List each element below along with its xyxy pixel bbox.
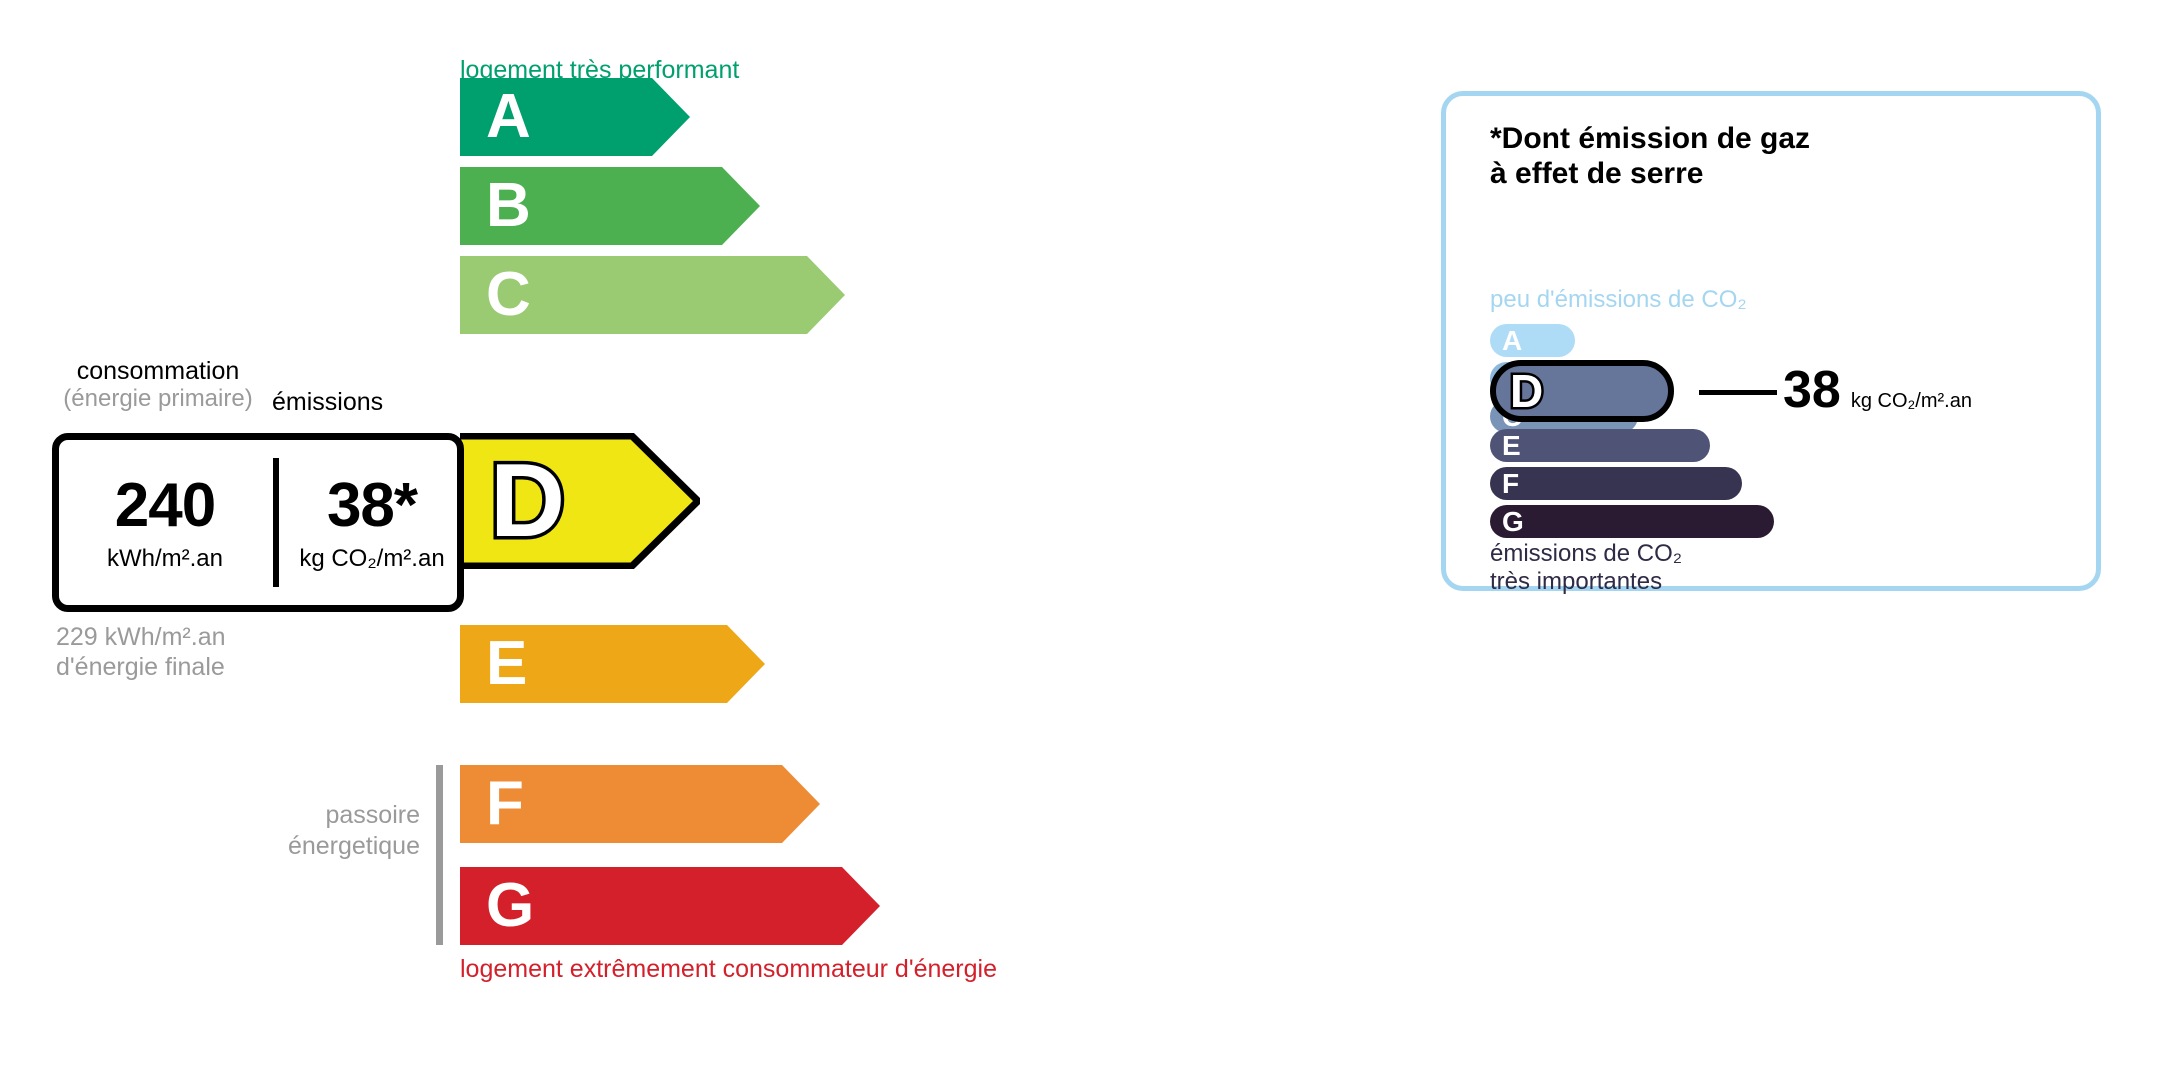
consumption-unit: kWh/m².an: [107, 547, 223, 571]
ges-bottom-caption: émissions de CO₂ très importantes: [1490, 540, 1682, 595]
emission-value: 38*: [327, 475, 417, 537]
ges-title: *Dont émission de gaz à effet de serre: [1490, 122, 1810, 191]
emission-value-cell: 38* kg CO₂/m².an: [279, 440, 465, 605]
final-energy-note-line2: d'énergie finale: [56, 652, 226, 682]
energy-bar-e: E: [460, 625, 765, 703]
ges-top-caption: peu d'émissions de CO₂: [1490, 286, 1747, 314]
ges-letter-g: G: [1502, 508, 1524, 536]
energy-letter-f: F: [486, 773, 523, 835]
passoire-bracket: [436, 765, 443, 945]
ges-unit: kg CO₂/m².an: [1851, 390, 1972, 413]
energy-bar-d-selected: D: [460, 433, 700, 569]
consumption-label: consommation: [77, 357, 240, 385]
energy-bar-f: F: [460, 765, 820, 843]
ges-bar-a: A: [1490, 324, 1575, 357]
ges-bar-d-selected: D: [1490, 360, 1674, 422]
energy-bar-a: A: [460, 78, 690, 156]
final-energy-note: 229 kWh/m².an d'énergie finale: [56, 622, 226, 682]
consumption-value-cell: 240 kWh/m².an: [59, 440, 271, 605]
energy-letter-c: C: [486, 264, 530, 326]
energy-bar-b: B: [460, 167, 760, 245]
passoire-line1: passoire: [160, 800, 420, 831]
ges-letter-a: A: [1502, 327, 1522, 355]
primary-energy-label: (énergie primaire): [52, 386, 264, 412]
energy-letter-a: A: [486, 86, 530, 148]
emissions-label: émissions: [272, 388, 383, 417]
consumption-label-group: consommation (énergie primaire): [52, 358, 264, 412]
consumption-value: 240: [115, 475, 215, 537]
ges-bar-f: F: [1490, 467, 1742, 500]
ges-letter-e: E: [1502, 432, 1521, 460]
energy-bar-g: G: [460, 867, 880, 945]
energy-letter-e: E: [486, 633, 526, 695]
energy-bottom-caption: logement extrêmement consommateur d'éner…: [460, 955, 997, 984]
ges-value: 38: [1783, 364, 1841, 416]
energy-bar-c: C: [460, 256, 845, 334]
passoire-label: passoire énergetique: [160, 800, 420, 863]
ges-letter-f: F: [1502, 470, 1519, 498]
greenhouse-gas-panel: *Dont émission de gaz à effet de serre p…: [1441, 91, 2101, 591]
energy-letter-d: D: [490, 449, 564, 553]
final-energy-note-line1: 229 kWh/m².an: [56, 622, 226, 652]
energy-performance-panel: logement très performant A B C D E: [0, 0, 1400, 1079]
ges-letter-d: D: [1510, 368, 1543, 414]
ges-bar-e: E: [1490, 429, 1710, 462]
ges-value-group: 38 kg CO₂/m².an: [1783, 364, 1972, 416]
energy-value-box: 240 kWh/m².an 38* kg CO₂/m².an: [52, 433, 464, 612]
energy-letter-g: G: [486, 875, 533, 937]
emission-unit: kg CO₂/m².an: [299, 547, 444, 571]
ges-leader-line: [1699, 390, 1777, 395]
energy-letter-b: B: [486, 175, 530, 237]
ges-bar-g: G: [1490, 505, 1774, 538]
passoire-line2: énergetique: [160, 831, 420, 862]
